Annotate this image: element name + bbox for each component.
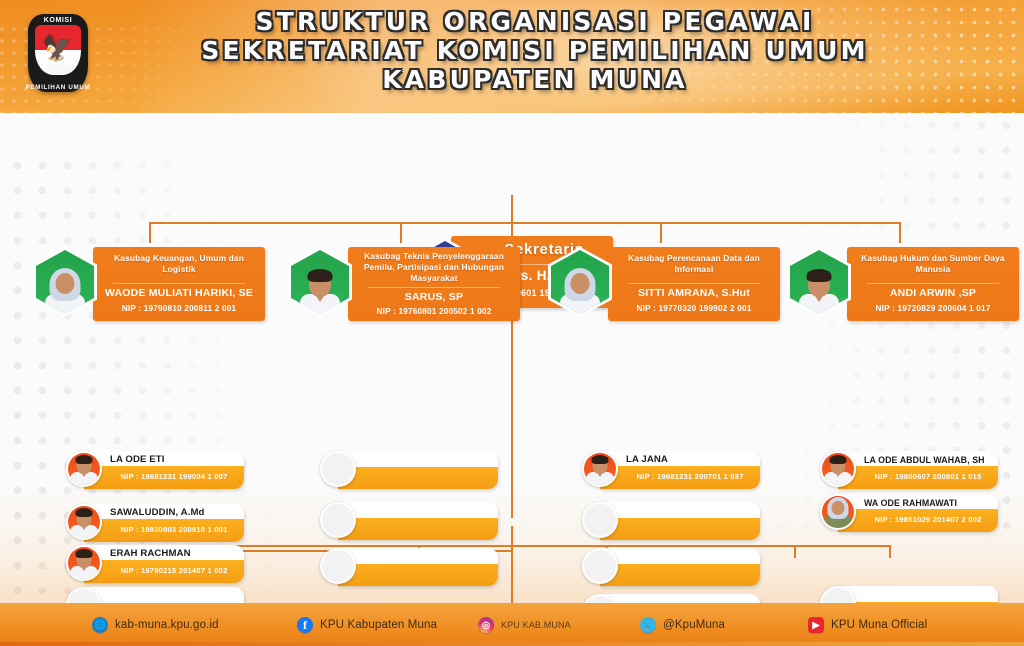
connector-h-slots [133,545,889,547]
staff-4-1-avatar [820,451,856,487]
kasubag-4-name: ANDI ARWIN ,SP [855,287,1011,299]
staff-card-1-2[interactable]: SAWALUDDIN, A.Md NIP : 19830803 200910 1… [66,504,244,542]
footer-link-website[interactable]: 🌐 kab-muna.kpu.go.id [92,615,219,635]
staff-2-2-avatar-placeholder [320,502,356,538]
staff-2-1-body [338,451,498,489]
staff-4-3-body [838,586,998,603]
footer-website-label: kab-muna.kpu.go.id [115,619,219,631]
staff-card-1-4[interactable] [66,587,244,603]
kpu-logo: 🦅 KOMISI PEMILIHAN UMUM [22,8,94,100]
page-header: 🦅 KOMISI PEMILIHAN UMUM STRUKTUR ORGANIS… [0,0,1024,113]
staff-3-1-name: LA JANA [626,453,756,467]
title-line-1: STRUKTUR ORGANISASI PEGAWAI [105,7,965,36]
footer-link-facebook[interactable]: f KPU Kabupaten Muna [297,615,437,635]
staff-3-2-avatar-placeholder [582,502,618,538]
kasubag-4-photo [787,247,851,317]
connector-slot-4 [794,545,796,558]
logo-top-text: KOMISI [22,17,94,24]
kasubag-1-card-body: Kasubag Keuangan, Umum dan Logistik WAOD… [93,247,265,321]
connector-fungsional-down [511,526,513,603]
connector-root-down [511,195,513,222]
footer-bottom-rule [0,642,1024,646]
connector-div-4 [899,222,901,243]
footer-link-instagram[interactable]: ◎ KPU KAB.MUNA [478,615,571,635]
staff-1-2-nip: NIP : 19830803 200910 1 001 [106,525,242,534]
twitter-icon: 🐦 [640,617,656,633]
staff-card-3-4[interactable] [582,594,760,603]
staff-card-2-1[interactable] [320,451,498,489]
kasubag-2-divider [368,287,500,288]
kasubag-4-role: Kasubag Hukum dan Sumber Daya Manusia [855,253,1011,275]
staff-2-1-avatar-placeholder [320,451,356,487]
kasubag-2-role: Kasubag Teknis Penyelenggaraan Pemilu, P… [356,251,512,283]
title-line-3: KABUPATEN MUNA [105,65,965,94]
staff-3-2-body [600,502,760,540]
connector-h-divisions [149,222,899,224]
kasubag-3-card-body: Kasubag Perencanaan Data dan Informasi S… [608,247,780,321]
title-line-2: SEKRETARIAT KOMISI PEMILIHAN UMUM [105,36,965,65]
youtube-icon: ▶ [808,617,824,633]
node-kasubag-3[interactable]: Kasubag Perencanaan Data dan Informasi S… [548,243,780,323]
garuda-icon: 🦅 [42,37,73,62]
kasubag-4-photo-inner [790,250,848,314]
kasubag-3-nip: NIP : 19770320 199902 2 001 [610,304,778,313]
kasubag-1-nip: NIP : 19790810 200811 2 001 [95,304,263,313]
staff-2-3-body [338,548,498,586]
node-kasubag-1[interactable]: Kasubag Keuangan, Umum dan Logistik WAOD… [33,243,265,323]
logo-bottom-text: PEMILIHAN UMUM [22,84,94,91]
staff-3-1-nip: NIP : 19681231 200701 1 037 [622,472,758,481]
kasubag-1-name: WAODE MULIATI HARIKI, SE [101,287,257,299]
connector-div-3 [660,222,662,243]
kasubag-2-photo-inner [291,250,349,314]
staff-card-3-1[interactable]: LA JANA NIP : 19681231 200701 1 037 [582,451,760,489]
staff-1-3-name: ERAH RACHMAN [110,547,240,561]
staff-card-2-2[interactable] [320,502,498,540]
staff-card-4-2[interactable]: WA ODE RAHMAWATI NIP : 19851029 201407 2… [820,494,998,532]
staff-4-2-name: WA ODE RAHMAWATI [864,496,994,510]
page-title: STRUKTUR ORGANISASI PEGAWAI SEKRETARIAT … [105,7,965,94]
org-chart-panel: Sekretaris Drs. HALISI NIP : 19680601 19… [0,113,1024,603]
staff-4-1-nip: NIP : 19800607 200801 1 015 [860,472,996,481]
kasubag-3-photo [548,247,612,317]
staff-1-3-avatar [66,545,102,581]
connector-div-2 [400,222,402,243]
staff-3-4-body [600,594,760,603]
staff-card-3-2[interactable] [582,502,760,540]
staff-card-3-3[interactable] [582,548,760,586]
staff-card-1-3[interactable]: ERAH RACHMAN NIP : 19790215 201407 1 002 [66,545,244,583]
staff-1-1-name: LA ODE ETI [110,453,240,467]
staff-4-2-avatar [820,494,856,530]
staff-card-1-1[interactable]: LA ODE ETI NIP : 19681231 199004 1 007 [66,451,244,489]
portrait-hair [308,269,333,282]
connector-slot-5 [889,545,891,558]
instagram-icon: ◎ [478,617,494,633]
kasubag-3-photo-inner [551,250,609,314]
staff-4-1-name: LA ODE ABDUL WAHAB, SH [864,453,994,467]
kasubag-4-divider [867,283,999,284]
staff-3-1-avatar [582,451,618,487]
staff-2-2-body [338,502,498,540]
footer-facebook-label: KPU Kabupaten Muna [320,619,437,631]
footer-twitter-label: @KpuMuna [663,619,725,631]
staff-2-3-avatar-placeholder [320,548,356,584]
node-kasubag-4[interactable]: Kasubag Hukum dan Sumber Daya Manusia AN… [787,243,1019,323]
staff-card-2-3[interactable] [320,548,498,586]
staff-1-2-avatar [66,504,102,540]
kasubag-3-name: SITTI AMRANA, S.Hut [616,287,772,299]
staff-1-4-body [84,587,244,603]
kasubag-3-role: Kasubag Perencanaan Data dan Informasi [616,253,772,275]
kasubag-2-name: SARUS, SP [356,291,512,303]
logo-crest-field: 🦅 [35,25,81,75]
staff-1-2-name: SAWALUDDIN, A.Md [110,506,240,520]
kasubag-1-divider [113,283,245,284]
kasubag-4-nip: NIP : 19720829 200604 1 017 [849,304,1017,313]
footer-link-youtube[interactable]: ▶ KPU Muna Official [808,615,927,635]
portrait-face [56,273,75,294]
footer-instagram-label: KPU KAB.MUNA [501,620,571,630]
portrait-illustration [44,268,86,314]
node-kasubag-2[interactable]: Kasubag Teknis Penyelenggaraan Pemilu, P… [288,243,520,323]
staff-3-3-avatar-placeholder [582,548,618,584]
portrait-illustration [798,268,840,314]
staff-4-2-nip: NIP : 19851029 201407 2 002 [860,515,996,524]
kasubag-1-photo-inner [36,250,94,314]
portrait-face [571,273,590,294]
kasubag-2-card-body: Kasubag Teknis Penyelenggaraan Pemilu, P… [348,247,520,321]
footer-link-twitter[interactable]: 🐦 @KpuMuna [640,615,725,635]
page-footer: 🌐 kab-muna.kpu.go.id f KPU Kabupaten Mun… [0,603,1024,646]
staff-card-4-3[interactable] [820,586,998,603]
kasubag-2-photo [288,247,352,317]
portrait-hair [807,269,832,282]
staff-card-4-1[interactable]: LA ODE ABDUL WAHAB, SH NIP : 19800607 20… [820,451,998,489]
staff-1-1-nip: NIP : 19681231 199004 1 007 [106,472,242,481]
kasubag-3-divider [628,283,760,284]
portrait-illustration [299,268,341,314]
staff-3-3-body [600,548,760,586]
kasubag-2-nip: NIP : 19760801 200502 1 002 [350,307,518,316]
kasubag-4-card-body: Kasubag Hukum dan Sumber Daya Manusia AN… [847,247,1019,321]
staff-1-1-avatar [66,451,102,487]
connector-div-1 [149,222,151,243]
kasubag-1-photo [33,247,97,317]
footer-youtube-label: KPU Muna Official [831,619,927,631]
portrait-illustration [559,268,601,314]
facebook-icon: f [297,617,313,633]
kasubag-1-role: Kasubag Keuangan, Umum dan Logistik [101,253,257,275]
staff-1-3-nip: NIP : 19790215 201407 1 002 [106,566,242,575]
globe-icon: 🌐 [92,617,108,633]
